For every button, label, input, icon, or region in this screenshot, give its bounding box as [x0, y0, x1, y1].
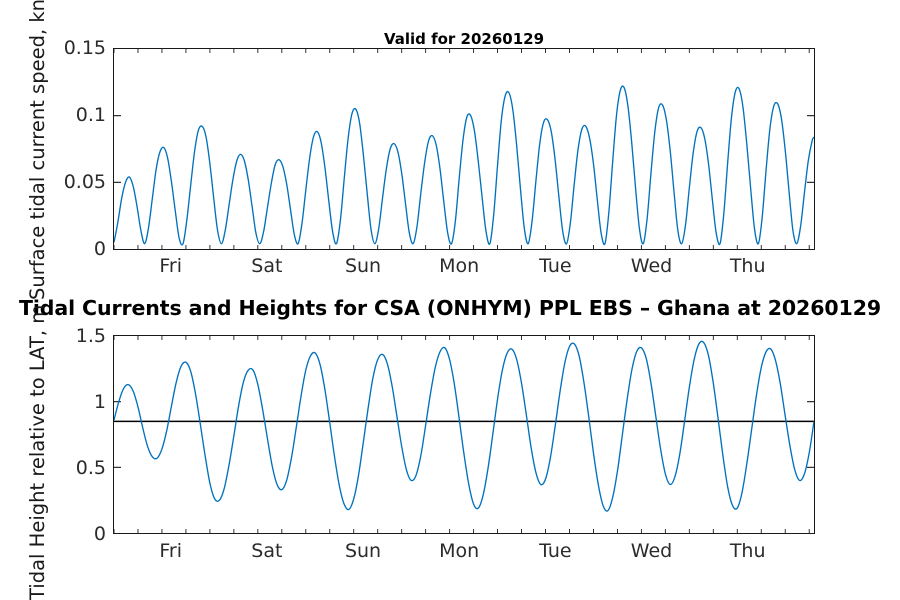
- x-tick-label: Fri: [159, 540, 182, 562]
- y-tick-label: 1: [94, 391, 113, 413]
- x-tick-label: Sun: [345, 540, 381, 562]
- y-axis-ticks-top: 0.15 0.1 0.05 0: [0, 0, 113, 300]
- current-speed-plot-svg: [114, 49, 814, 249]
- y-tick-label: 1.5: [76, 325, 113, 347]
- y-tick-label: 0: [94, 238, 113, 260]
- figure-canvas: Valid for 20260129 Surface tidal current…: [0, 0, 900, 600]
- x-tick-label: Mon: [439, 540, 479, 562]
- y-tick-label: 0.5: [76, 457, 113, 479]
- data-series-line: [114, 86, 814, 245]
- x-tick-label: Sat: [251, 540, 282, 562]
- figure-title: Tidal Currents and Heights for CSA (ONHY…: [19, 296, 881, 320]
- x-tick-label: Tue: [539, 255, 571, 277]
- y-axis-ticks-bottom: 1.5 1 0.5 0: [0, 300, 113, 600]
- y-tick-label: 0: [94, 523, 113, 545]
- x-tick-label: Sun: [345, 255, 381, 277]
- x-tick-label: Mon: [439, 255, 479, 277]
- plot-area-current-speed: [113, 48, 815, 250]
- plot-area-tidal-height: [113, 335, 815, 534]
- y-tick-label: 0.05: [64, 171, 113, 193]
- x-tick-label: Sat: [251, 255, 282, 277]
- data-series-line: [114, 341, 814, 511]
- tidal-height-plot-svg: [114, 336, 814, 533]
- x-tick-label: Thu: [730, 540, 766, 562]
- x-tick-label: Wed: [631, 540, 672, 562]
- y-tick-label: 0.1: [76, 104, 113, 126]
- x-tick-label: Tue: [539, 540, 571, 562]
- x-tick-label: Wed: [631, 255, 672, 277]
- x-tick-label: Thu: [730, 255, 766, 277]
- y-tick-label: 0.15: [64, 37, 113, 59]
- x-tick-label: Fri: [159, 255, 182, 277]
- subplot-top-title: Valid for 20260129: [384, 30, 544, 48]
